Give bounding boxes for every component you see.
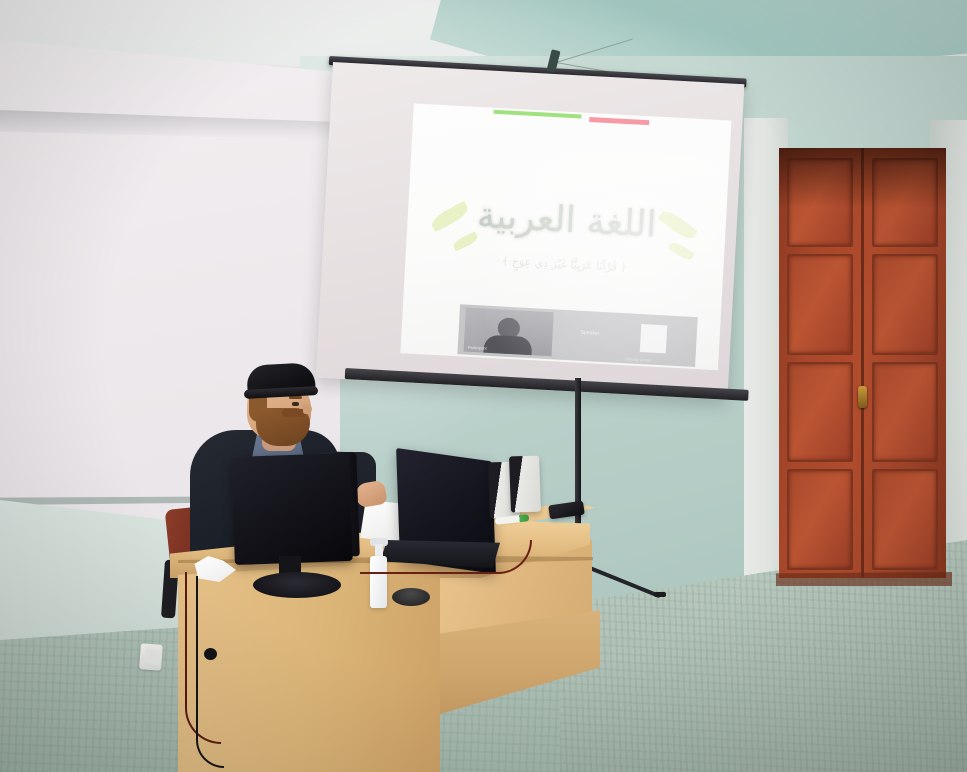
video-participant-body bbox=[483, 335, 532, 357]
video-call-strip: Participant Speaker Shared screen bbox=[457, 304, 697, 367]
outlet-plug bbox=[144, 648, 163, 665]
door-panel bbox=[787, 158, 853, 247]
door-panel bbox=[872, 158, 938, 247]
door-panel bbox=[872, 254, 938, 355]
door-leaf-left[interactable] bbox=[779, 148, 864, 578]
cable-knot bbox=[204, 648, 217, 660]
door-panel bbox=[787, 362, 853, 463]
door-panel bbox=[787, 254, 853, 355]
computer-monitor bbox=[231, 453, 353, 565]
wooden-double-door[interactable] bbox=[779, 148, 946, 578]
projection-screen: اللغة العربية ﴿ قُرْآنًا عَرَبِيًّا غَيْ… bbox=[316, 62, 744, 400]
monitor-base bbox=[253, 572, 341, 598]
whiteboard-eraser bbox=[392, 588, 430, 606]
desk-cable bbox=[360, 540, 532, 574]
video-thumb-label: Shared screen bbox=[625, 356, 651, 362]
slide-red-bar bbox=[589, 117, 649, 125]
speaker-right bbox=[509, 455, 541, 512]
video-shared-thumb[interactable] bbox=[640, 324, 667, 353]
door-handle[interactable] bbox=[858, 386, 867, 408]
door-panel bbox=[872, 362, 938, 463]
classroom-photo: اللغة العربية ﴿ قُرْآنًا عَرَبِيًّا غَيْ… bbox=[0, 0, 967, 772]
door-panel bbox=[787, 469, 853, 570]
video-participant-name: Participant bbox=[468, 345, 487, 351]
projected-slide: اللغة العربية ﴿ قُرْآنًا عَرَبِيًّا غَيْ… bbox=[400, 103, 731, 370]
video-participant-tile[interactable]: Participant bbox=[464, 308, 554, 357]
door-panel bbox=[872, 469, 938, 570]
slide-green-bar bbox=[493, 110, 581, 119]
video-panel-label: Speaker bbox=[581, 330, 600, 337]
tripod-foot bbox=[654, 592, 666, 597]
door-sill bbox=[776, 572, 952, 586]
door-frame bbox=[779, 148, 946, 578]
power-cable-black bbox=[196, 576, 224, 768]
presenter-eye bbox=[292, 402, 299, 406]
door-leaf-right[interactable] bbox=[864, 148, 946, 578]
